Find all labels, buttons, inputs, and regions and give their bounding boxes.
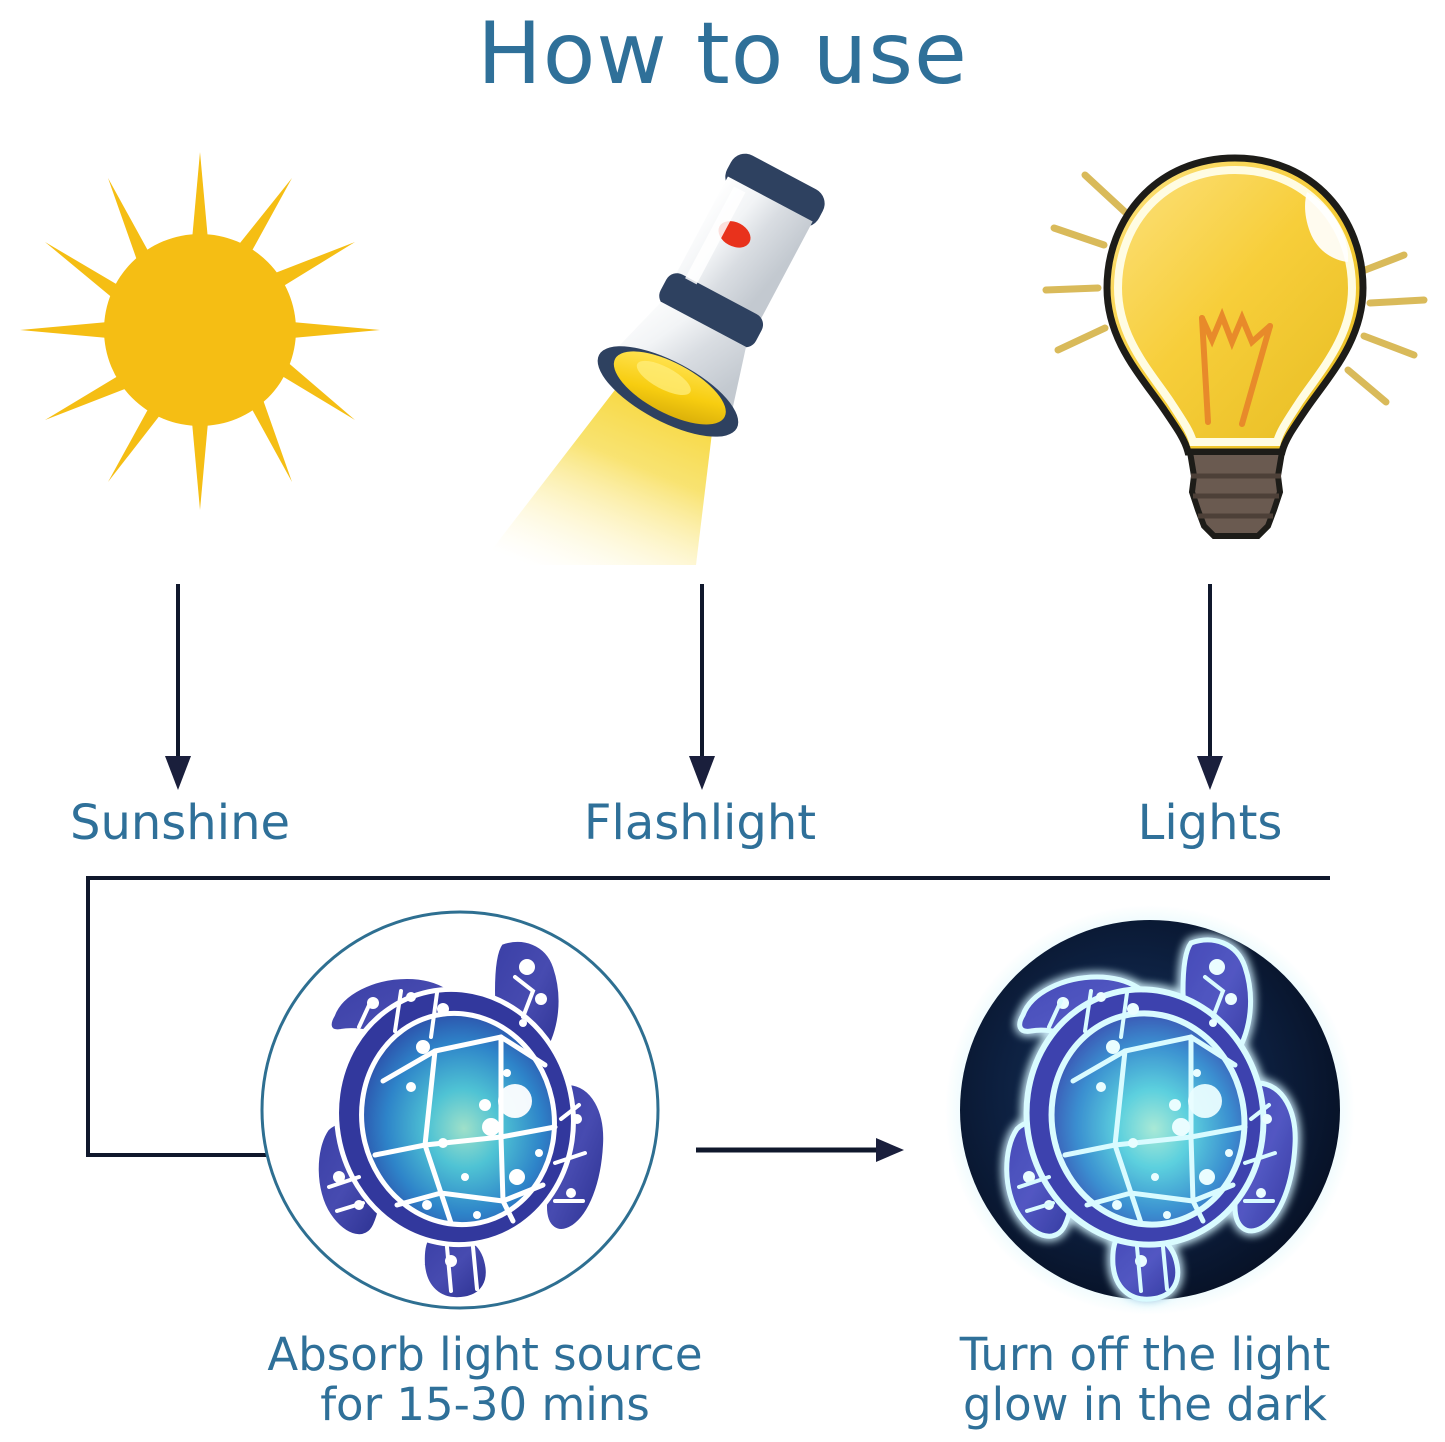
sea-turtle-glowing-icon [945,905,1355,1315]
caption-right-line2: glow in the dark [865,1380,1425,1430]
sea-turtle-daylight-icon [255,905,665,1315]
source-label-lights: Lights [1030,795,1390,851]
arrow-right-icon [690,1120,920,1180]
arrow-down-sunshine-icon [110,580,260,795]
caption-absorb-light: Absorb light source for 15-30 mins [140,1330,830,1431]
light-bulb-icon [1030,140,1440,540]
arrow-down-lights-icon [1140,580,1290,795]
caption-glow-dark: Turn off the light glow in the dark [865,1330,1425,1431]
caption-left-line2: for 15-30 mins [140,1380,830,1430]
flashlight-icon [470,125,870,565]
page-title: How to use [0,4,1445,104]
source-label-sunshine: Sunshine [0,795,360,851]
caption-left-line1: Absorb light source [267,1328,702,1381]
sun-icon [0,130,400,530]
caption-right-line1: Turn off the light [960,1328,1330,1381]
arrow-down-flashlight-icon [630,580,780,795]
source-label-flashlight: Flashlight [520,795,880,851]
how-to-use-infographic: How to use [0,0,1445,1442]
